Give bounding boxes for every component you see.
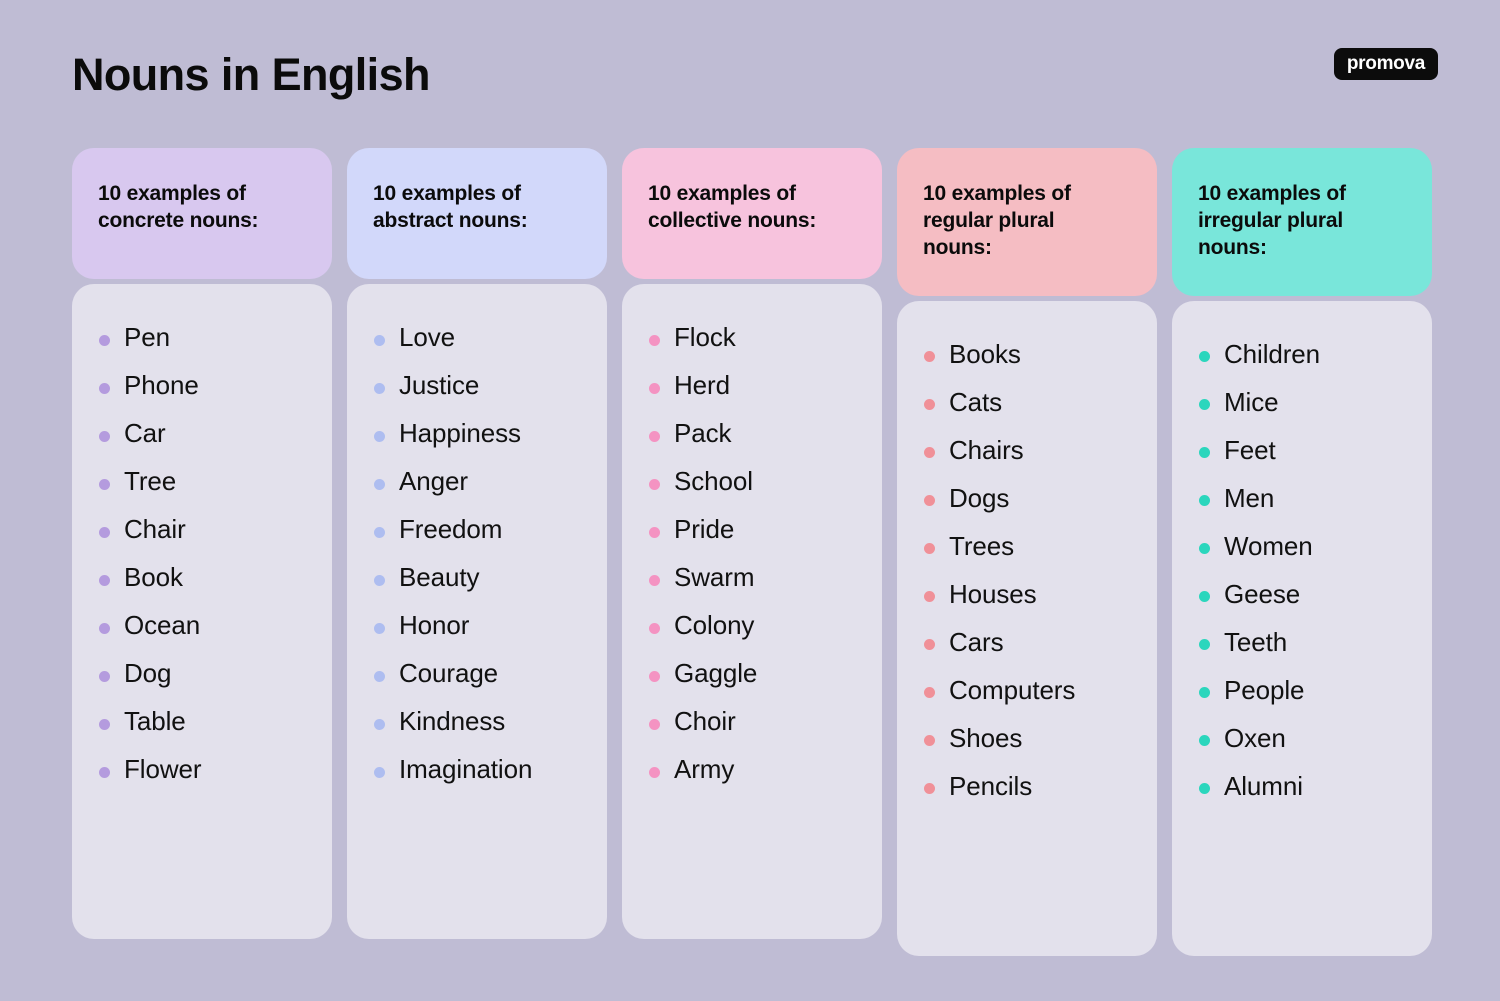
noun-label: Car xyxy=(124,420,166,446)
column-header-label: 10 examples of abstract nouns: xyxy=(373,181,563,235)
list-item: Happiness xyxy=(361,420,593,446)
list-item: Table xyxy=(86,708,318,734)
list-item: Computers xyxy=(911,677,1143,703)
bullet-dot-icon xyxy=(1199,735,1210,746)
list-item: Feet xyxy=(1186,437,1418,463)
bullet-dot-icon xyxy=(649,431,660,442)
bullet-dot-icon xyxy=(1199,687,1210,698)
noun-label: Herd xyxy=(674,372,730,398)
list-item: Chair xyxy=(86,516,318,542)
noun-column: 10 examples of irregular plural nouns:Ch… xyxy=(1172,148,1432,956)
list-item: Children xyxy=(1186,341,1418,367)
noun-list: PenPhoneCarTreeChairBookOceanDogTableFlo… xyxy=(86,324,318,782)
noun-label: Chairs xyxy=(949,437,1024,463)
bullet-dot-icon xyxy=(649,767,660,778)
list-item: Choir xyxy=(636,708,868,734)
noun-label: Oxen xyxy=(1224,725,1286,751)
promova-logo: promova xyxy=(1334,48,1438,80)
noun-label: Imagination xyxy=(399,756,532,782)
list-item: Pack xyxy=(636,420,868,446)
bullet-dot-icon xyxy=(1199,495,1210,506)
bullet-dot-icon xyxy=(924,543,935,554)
noun-column: 10 examples of regular plural nouns:Book… xyxy=(897,148,1157,956)
noun-label: Books xyxy=(949,341,1021,367)
list-item: Women xyxy=(1186,533,1418,559)
list-item: Love xyxy=(361,324,593,350)
list-item: Imagination xyxy=(361,756,593,782)
page-header: Nouns in English promova xyxy=(0,0,1500,130)
bullet-dot-icon xyxy=(649,527,660,538)
bullet-dot-icon xyxy=(1199,639,1210,650)
bullet-dot-icon xyxy=(1199,447,1210,458)
noun-label: Alumni xyxy=(1224,773,1303,799)
column-header-card: 10 examples of irregular plural nouns: xyxy=(1172,148,1432,296)
noun-label: Women xyxy=(1224,533,1313,559)
page-title: Nouns in English xyxy=(72,52,430,97)
noun-label: Computers xyxy=(949,677,1075,703)
noun-label: Freedom xyxy=(399,516,502,542)
list-item: Houses xyxy=(911,581,1143,607)
noun-label: Dogs xyxy=(949,485,1009,511)
list-item: Justice xyxy=(361,372,593,398)
column-header-label: 10 examples of collective nouns: xyxy=(648,181,838,235)
noun-column: 10 examples of abstract nouns:LoveJustic… xyxy=(347,148,607,939)
bullet-dot-icon xyxy=(99,575,110,586)
list-item: Oxen xyxy=(1186,725,1418,751)
bullet-dot-icon xyxy=(374,335,385,346)
bullet-dot-icon xyxy=(99,479,110,490)
list-item: Chairs xyxy=(911,437,1143,463)
list-item: Beauty xyxy=(361,564,593,590)
noun-label: Ocean xyxy=(124,612,200,638)
noun-label: Pride xyxy=(674,516,734,542)
column-body-card: ChildrenMiceFeetMenWomenGeeseTeethPeople… xyxy=(1172,301,1432,956)
bullet-dot-icon xyxy=(924,735,935,746)
noun-category-columns: 10 examples of concrete nouns:PenPhoneCa… xyxy=(72,148,1434,956)
noun-label: People xyxy=(1224,677,1304,703)
bullet-dot-icon xyxy=(374,431,385,442)
list-item: Anger xyxy=(361,468,593,494)
noun-label: Geese xyxy=(1224,581,1300,607)
list-item: Herd xyxy=(636,372,868,398)
bullet-dot-icon xyxy=(649,335,660,346)
noun-list: ChildrenMiceFeetMenWomenGeeseTeethPeople… xyxy=(1186,341,1418,799)
list-item: Alumni xyxy=(1186,773,1418,799)
list-item: Dogs xyxy=(911,485,1143,511)
noun-label: Swarm xyxy=(674,564,754,590)
list-item: Teeth xyxy=(1186,629,1418,655)
noun-label: Happiness xyxy=(399,420,521,446)
bullet-dot-icon xyxy=(924,399,935,410)
bullet-dot-icon xyxy=(1199,591,1210,602)
list-item: Freedom xyxy=(361,516,593,542)
list-item: Cars xyxy=(911,629,1143,655)
bullet-dot-icon xyxy=(1199,399,1210,410)
column-body-card: FlockHerdPackSchoolPrideSwarmColonyGaggl… xyxy=(622,284,882,939)
list-item: Cats xyxy=(911,389,1143,415)
bullet-dot-icon xyxy=(924,591,935,602)
noun-label: Trees xyxy=(949,533,1014,559)
list-item: Ocean xyxy=(86,612,318,638)
bullet-dot-icon xyxy=(374,671,385,682)
list-item: Pride xyxy=(636,516,868,542)
list-item: Trees xyxy=(911,533,1143,559)
noun-label: Pen xyxy=(124,324,170,350)
bullet-dot-icon xyxy=(649,383,660,394)
list-item: Army xyxy=(636,756,868,782)
list-item: Dog xyxy=(86,660,318,686)
bullet-dot-icon xyxy=(374,479,385,490)
bullet-dot-icon xyxy=(99,767,110,778)
bullet-dot-icon xyxy=(374,623,385,634)
noun-label: Flower xyxy=(124,756,201,782)
noun-label: Kindness xyxy=(399,708,505,734)
bullet-dot-icon xyxy=(99,527,110,538)
noun-label: Feet xyxy=(1224,437,1276,463)
bullet-dot-icon xyxy=(374,527,385,538)
noun-label: Dog xyxy=(124,660,171,686)
noun-label: Phone xyxy=(124,372,199,398)
list-item: Men xyxy=(1186,485,1418,511)
list-item: Geese xyxy=(1186,581,1418,607)
bullet-dot-icon xyxy=(99,719,110,730)
list-item: Kindness xyxy=(361,708,593,734)
noun-label: Children xyxy=(1224,341,1320,367)
noun-label: Pencils xyxy=(949,773,1032,799)
list-item: Pencils xyxy=(911,773,1143,799)
noun-list: BooksCatsChairsDogsTreesHousesCarsComput… xyxy=(911,341,1143,799)
bullet-dot-icon xyxy=(924,639,935,650)
bullet-dot-icon xyxy=(99,383,110,394)
list-item: Honor xyxy=(361,612,593,638)
noun-label: Shoes xyxy=(949,725,1022,751)
column-header-label: 10 examples of regular plural nouns: xyxy=(923,181,1113,262)
column-header-label: 10 examples of concrete nouns: xyxy=(98,181,288,235)
noun-label: Anger xyxy=(399,468,468,494)
list-item: Phone xyxy=(86,372,318,398)
noun-label: Cats xyxy=(949,389,1002,415)
bullet-dot-icon xyxy=(924,495,935,506)
bullet-dot-icon xyxy=(1199,543,1210,554)
column-body-card: BooksCatsChairsDogsTreesHousesCarsComput… xyxy=(897,301,1157,956)
list-item: Courage xyxy=(361,660,593,686)
noun-label: Cars xyxy=(949,629,1004,655)
list-item: Tree xyxy=(86,468,318,494)
noun-label: Chair xyxy=(124,516,186,542)
bullet-dot-icon xyxy=(924,351,935,362)
bullet-dot-icon xyxy=(374,719,385,730)
noun-label: Colony xyxy=(674,612,754,638)
noun-label: Mice xyxy=(1224,389,1279,415)
noun-label: Courage xyxy=(399,660,498,686)
column-header-card: 10 examples of abstract nouns: xyxy=(347,148,607,279)
bullet-dot-icon xyxy=(1199,351,1210,362)
bullet-dot-icon xyxy=(649,479,660,490)
bullet-dot-icon xyxy=(924,447,935,458)
noun-label: Love xyxy=(399,324,455,350)
noun-label: Men xyxy=(1224,485,1274,511)
noun-label: Book xyxy=(124,564,183,590)
list-item: Books xyxy=(911,341,1143,367)
bullet-dot-icon xyxy=(99,335,110,346)
list-item: Swarm xyxy=(636,564,868,590)
bullet-dot-icon xyxy=(99,623,110,634)
column-header-card: 10 examples of concrete nouns: xyxy=(72,148,332,279)
bullet-dot-icon xyxy=(649,623,660,634)
noun-column: 10 examples of collective nouns:FlockHer… xyxy=(622,148,882,939)
list-item: Flock xyxy=(636,324,868,350)
noun-label: Gaggle xyxy=(674,660,757,686)
bullet-dot-icon xyxy=(374,575,385,586)
column-body-card: LoveJusticeHappinessAngerFreedomBeautyHo… xyxy=(347,284,607,939)
bullet-dot-icon xyxy=(649,671,660,682)
bullet-dot-icon xyxy=(99,671,110,682)
noun-label: Table xyxy=(124,708,186,734)
noun-label: School xyxy=(674,468,753,494)
list-item: School xyxy=(636,468,868,494)
noun-list: LoveJusticeHappinessAngerFreedomBeautyHo… xyxy=(361,324,593,782)
noun-label: Teeth xyxy=(1224,629,1287,655)
noun-label: Justice xyxy=(399,372,479,398)
noun-label: Flock xyxy=(674,324,736,350)
list-item: Shoes xyxy=(911,725,1143,751)
list-item: Pen xyxy=(86,324,318,350)
list-item: Gaggle xyxy=(636,660,868,686)
bullet-dot-icon xyxy=(649,719,660,730)
noun-label: Choir xyxy=(674,708,736,734)
bullet-dot-icon xyxy=(649,575,660,586)
column-header-card: 10 examples of regular plural nouns: xyxy=(897,148,1157,296)
column-body-card: PenPhoneCarTreeChairBookOceanDogTableFlo… xyxy=(72,284,332,939)
list-item: Book xyxy=(86,564,318,590)
noun-list: FlockHerdPackSchoolPrideSwarmColonyGaggl… xyxy=(636,324,868,782)
column-header-card: 10 examples of collective nouns: xyxy=(622,148,882,279)
bullet-dot-icon xyxy=(374,767,385,778)
bullet-dot-icon xyxy=(924,783,935,794)
noun-label: Honor xyxy=(399,612,469,638)
list-item: Flower xyxy=(86,756,318,782)
noun-label: Houses xyxy=(949,581,1037,607)
column-header-label: 10 examples of irregular plural nouns: xyxy=(1198,181,1388,262)
list-item: Colony xyxy=(636,612,868,638)
noun-column: 10 examples of concrete nouns:PenPhoneCa… xyxy=(72,148,332,939)
noun-label: Pack xyxy=(674,420,731,446)
bullet-dot-icon xyxy=(374,383,385,394)
bullet-dot-icon xyxy=(99,431,110,442)
list-item: People xyxy=(1186,677,1418,703)
bullet-dot-icon xyxy=(924,687,935,698)
list-item: Mice xyxy=(1186,389,1418,415)
list-item: Car xyxy=(86,420,318,446)
noun-label: Tree xyxy=(124,468,176,494)
noun-label: Beauty xyxy=(399,564,479,590)
noun-label: Army xyxy=(674,756,734,782)
bullet-dot-icon xyxy=(1199,783,1210,794)
